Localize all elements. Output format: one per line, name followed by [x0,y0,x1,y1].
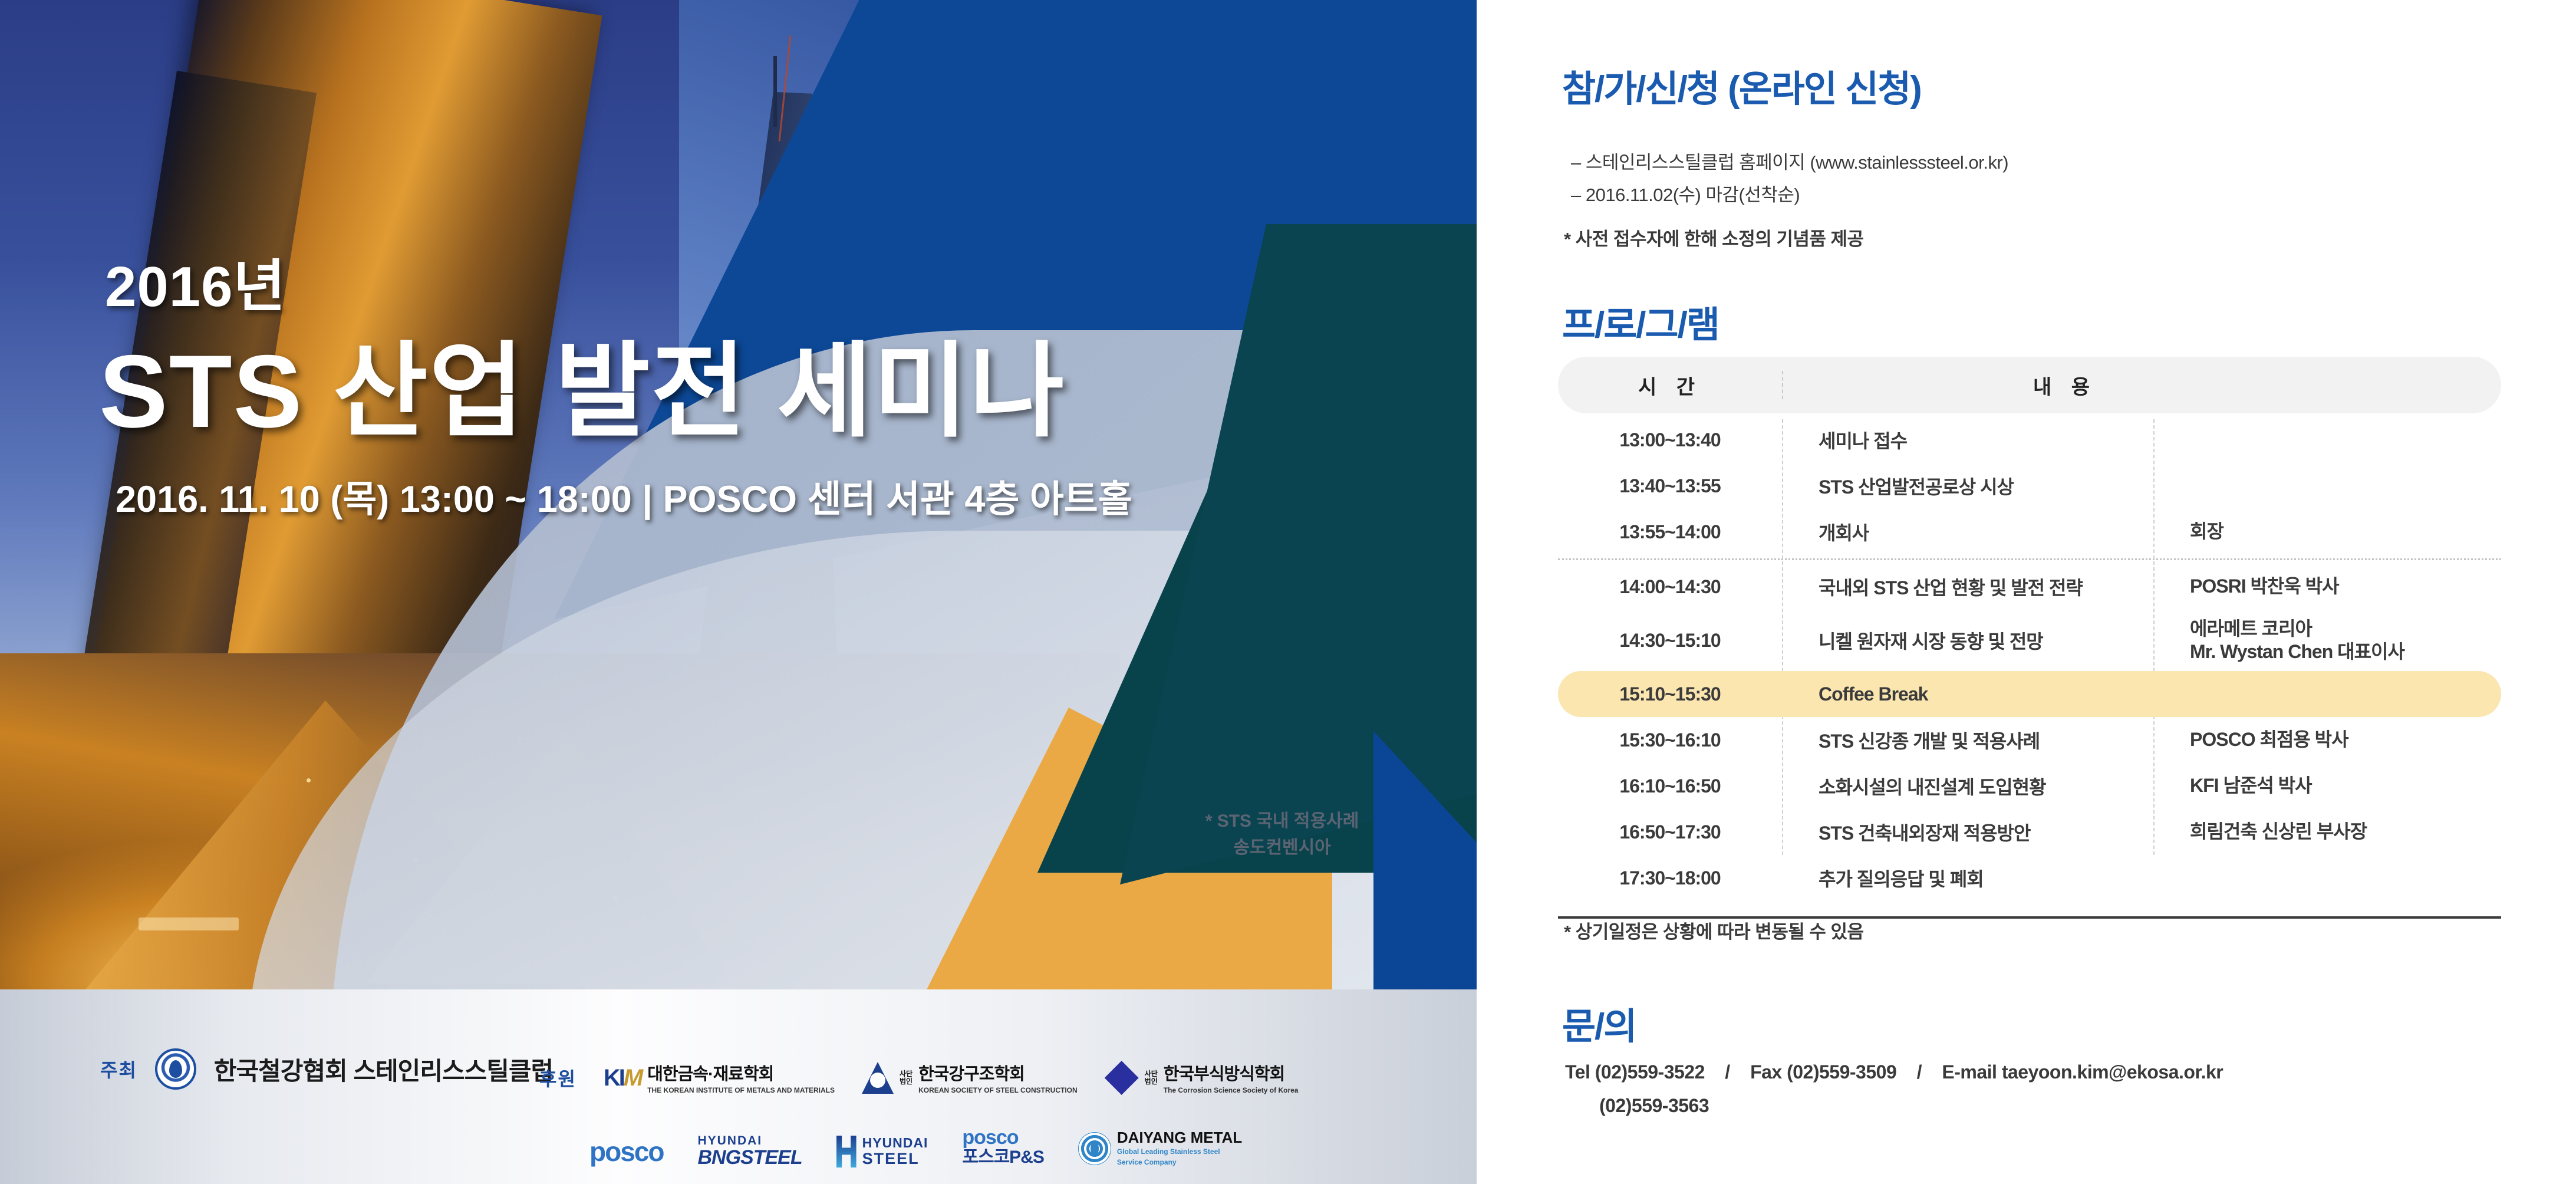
kim-name-en: THE KOREAN INSTITUTE OF METALS AND MATER… [647,1086,835,1094]
tel-label: Tel [1565,1061,1590,1083]
sponsor-row-societies: 후원 KIM 대한금속·재료학회 THE KOREAN INSTITUTE OF… [539,1060,1298,1096]
apply-bullet-gift: * 사전 접수자에 한해 소정의 기념품 제공 [1564,224,1864,251]
row-time: 16:50~17:30 [1558,821,1782,843]
poster-subtitle: 2016. 11. 10 (목) 13:00 ~ 18:00 | POSCO 센… [116,469,1132,523]
info-panel: 참/가/신/청 (온라인 신청) – 스테인리스스틸클럽 홈페이지 (www.s… [1477,0,2576,1184]
table-row: 15:10~15:30Coffee Break [1558,671,2501,717]
row-topic: 추가 질의응답 및 폐회 [1782,864,2153,892]
email-value[interactable]: taeyoon.kim@ekosa.or.kr [2002,1061,2223,1083]
row-speaker: KFI 남준석 박사 [2153,774,2501,797]
table-row: 15:30~16:10STS 신강종 개발 및 적용사례POSCO 최점용 박사 [1558,717,2501,763]
row-topic: STS 신강종 개발 및 적용사례 [1782,726,2153,754]
logo-hyundai-steel: HYUNDAI STEEL [836,1136,928,1167]
kim-name-kr: 대한금속·재료학회 [647,1065,773,1084]
row-topic: 개회사 [1782,518,2153,545]
row-topic: 세미나 접수 [1782,426,2153,453]
table-row-separator [1558,558,2501,560]
row-speaker: POSRI 박찬욱 박사 [2153,575,2501,598]
program-heading: 프/로/그/램 [1562,295,1719,348]
kssc-triangle-icon [862,1062,894,1094]
row-topic: Coffee Break [1782,683,2153,705]
row-time: 17:30~18:00 [1558,867,1782,889]
poster-title: STS 산업 발전 세미나 [99,308,1065,457]
posco-pns-wordmark: posco [962,1126,1018,1149]
row-time: 13:55~14:00 [1558,521,1782,543]
row-topic: 니켈 원자재 시장 동향 및 전망 [1782,627,2153,654]
cssk-name-en: The Corrosion Science Society of Korea [1164,1086,1299,1094]
contact-sep-2: / [1917,1061,1922,1083]
column-header-time: 시 간 [1558,371,1782,400]
fax-label: Fax [1750,1061,1782,1083]
bng-hyundai-label: HYUNDAI [697,1134,762,1147]
daiyang-wordmark: DAIYANG METAL [1117,1129,1242,1146]
row-time: 15:10~15:30 [1558,683,1782,705]
row-speaker: 희림건축 신상린 부사장 [2153,820,2501,843]
tel-value-secondary: (02)559-3563 [1599,1095,1709,1117]
program-table: 시 간 내 용 13:00~13:40세미나 접수13:40~13:55STS … [1558,357,2501,919]
program-table-body: 13:00~13:40세미나 접수13:40~13:55STS 산업발전공로상 … [1558,413,2501,901]
logo-kim: KIM 대한금속·재료학회 THE KOREAN INSTITUTE OF ME… [604,1060,835,1096]
row-time: 15:30~16:10 [1558,729,1782,751]
program-note: * 상기일정은 상황에 따라 변동될 수 있음 [1564,917,1864,943]
row-topic: STS 산업발전공로상 시상 [1782,472,2153,499]
photo-caption-line-2: 송도컨벤시아 [1205,834,1359,861]
row-time: 13:00~13:40 [1558,429,1782,451]
posco-wordmark: posco [589,1136,663,1167]
row-topic: 국내외 STS 산업 현황 및 발전 전략 [1782,573,2153,600]
logo-bng-steel: HYUNDAI BNGSTEEL [697,1134,802,1167]
event-poster: 2016년 STS 산업 발전 세미나 2016. 11. 10 (목) 13:… [0,0,1477,1184]
hyundai-label: HYUNDAI [862,1135,928,1150]
cssk-name-kr: 한국부식방식학회 [1164,1065,1284,1084]
host-label: 주최 [100,1055,137,1083]
row-topic: STS 건축내외장재 적용방안 [1782,818,2153,846]
row-speaker: 에라메트 코리아Mr. Wystan Chen 대표이사 [2153,617,2501,663]
host-name: 한국철강협회 스테인리스스틸클럽 [214,1051,553,1087]
logo-cssk: 사단법인 한국부식방식학회 The Corrosion Science Soci… [1105,1060,1299,1096]
daiyang-target-icon [1078,1132,1111,1165]
contact-line: Tel (02)559-3522 / Fax (02)559-3509 / E-… [1565,1061,2223,1083]
row-time: 14:30~15:10 [1558,630,1782,652]
row-speaker: POSCO 최점용 박사 [2153,728,2501,751]
apply-heading: 참/가/신/청 (온라인 신청) [1562,59,1921,112]
apply-bullet-deadline: – 2016.11.02(수) 마감(선착순) [1571,180,1800,206]
column-header-topic: 내 용 [1782,371,2501,400]
host-row: 주최 한국철강협회 스테인리스스틸클럽 [100,1048,553,1090]
table-row: 17:30~18:00추가 질의응답 및 폐회 [1558,855,2501,901]
korea-iron-steel-association-seal-icon [155,1048,196,1090]
table-row: 13:40~13:55STS 산업발전공로상 시상 [1558,463,2501,509]
table-row: 16:50~17:30STS 건축내외장재 적용방안희림건축 신상린 부사장 [1558,809,2501,855]
hyundai-steel-label: STEEL [862,1150,920,1167]
logo-kssc: 사단법인 한국강구조학회 KOREAN SOCIETY OF STEEL CON… [862,1060,1078,1096]
photo-tower-spire [773,56,777,127]
email-label: E-mail [1942,1061,1997,1083]
poster-photo-caption: * STS 국내 적용사례 송도컨벤시아 [1205,808,1359,861]
logo-posco-pns: posco 포스코P&S [962,1127,1044,1168]
bng-steel-wordmark: BNGSTEEL [697,1146,802,1169]
table-row: 16:10~16:50소화시설의 내진설계 도입현황KFI 남준석 박사 [1558,763,2501,809]
logo-daiyang-metal: DAIYANG METAL Global Leading Stainless S… [1078,1129,1242,1167]
row-topic: 소화시설의 내진설계 도입현황 [1782,772,2153,800]
row-time: 13:40~13:55 [1558,475,1782,497]
cssk-diamond-icon [1105,1061,1139,1095]
kssc-corporation-tag: 사단법인 [900,1070,913,1085]
apply-bullet-homepage: – 스테인리스스틸클럽 홈페이지 (www.stainlesssteel.or.… [1571,147,2008,174]
table-row: 13:55~14:00개회사회장 [1558,509,2501,555]
row-speaker: 회장 [2153,520,2501,543]
logo-posco: posco [589,1136,663,1167]
sponsor-label: 후원 [539,1064,577,1091]
tel-value: (02)559-3522 [1595,1061,1705,1083]
photo-convensia-sign [139,917,239,930]
contact-sep-1: / [1725,1061,1730,1083]
photo-light-speck [307,778,311,782]
posco-pns-name-kr: 포스코P&S [962,1147,1044,1167]
program-table-header: 시 간 내 용 [1558,357,2501,413]
daiyang-tagline-1: Global Leading Stainless Steel [1117,1147,1220,1156]
row-time: 16:10~16:50 [1558,775,1782,797]
contact-heading: 문/의 [1562,996,1636,1050]
cssk-corporation-tag: 사단법인 [1145,1070,1158,1085]
kim-mark-icon: KIM [604,1065,641,1091]
table-row: 14:30~15:10니켈 원자재 시장 동향 및 전망에라메트 코리아Mr. … [1558,610,2501,671]
daiyang-tagline-2: Service Company [1117,1158,1177,1166]
table-row: 14:00~14:30국내외 STS 산업 현황 및 발전 전략POSRI 박찬… [1558,564,2501,610]
kssc-name-en: KOREAN SOCIETY OF STEEL CONSTRUCTION [918,1086,1078,1094]
photo-caption-line-1: * STS 국내 적용사례 [1205,808,1359,834]
kssc-name-kr: 한국강구조학회 [918,1065,1025,1084]
sponsor-row-companies: posco HYUNDAI BNGSTEEL HYUNDAI STEEL pos… [589,1127,1242,1168]
row-time: 14:00~14:30 [1558,576,1782,598]
hyundai-h-icon [836,1136,857,1167]
table-row: 13:00~13:40세미나 접수 [1558,417,2501,463]
fax-value: (02)559-3509 [1787,1061,1896,1083]
